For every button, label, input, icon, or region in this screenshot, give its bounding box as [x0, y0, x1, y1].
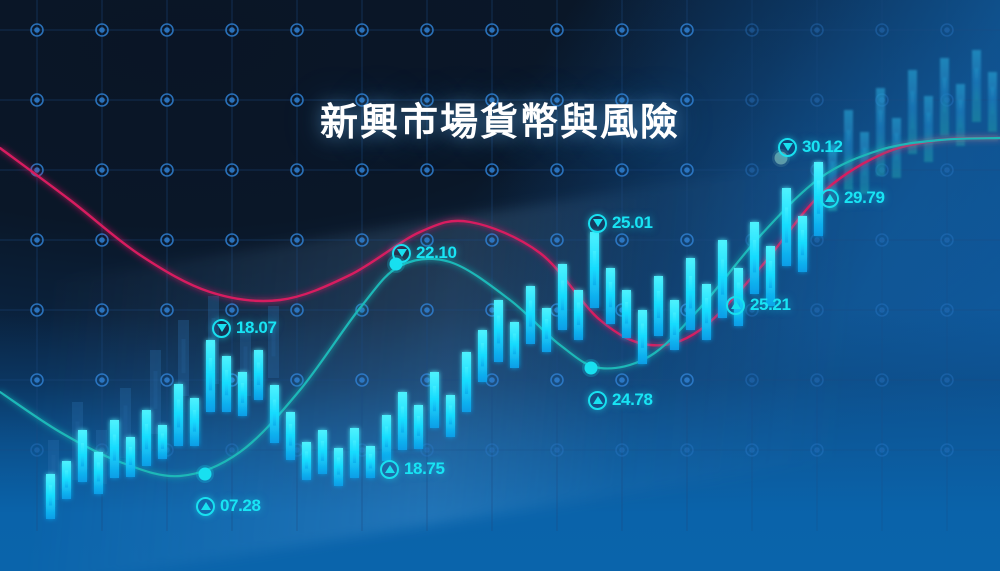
- triangle-glyph: [385, 465, 395, 473]
- data-marker-24-78[interactable]: 24.78: [588, 390, 653, 410]
- chart-canvas: 新興市場貨幣與風險 18.0707.2822.1018.7525.0124.78…: [0, 0, 1000, 571]
- data-marker-07-28[interactable]: 07.28: [196, 496, 261, 516]
- triangle-glyph: [731, 301, 741, 309]
- marker-value: 25.01: [612, 213, 653, 233]
- marker-value: 18.07: [236, 318, 277, 338]
- marker-value: 25.21: [750, 295, 791, 315]
- data-marker-22-10[interactable]: 22.10: [392, 243, 457, 263]
- triangle-glyph: [825, 194, 835, 202]
- marker-value: 30.12: [802, 137, 843, 157]
- triangle-glyph: [593, 219, 603, 227]
- arrow-down-icon: [392, 244, 411, 263]
- arrow-down-icon: [212, 319, 231, 338]
- marker-value: 07.28: [220, 496, 261, 516]
- arrow-up-icon: [380, 460, 399, 479]
- arrow-down-icon: [778, 138, 797, 157]
- curve-vertex-dot: [199, 468, 212, 481]
- data-marker-30-12[interactable]: 30.12: [778, 137, 843, 157]
- data-marker-25-21[interactable]: 25.21: [726, 295, 791, 315]
- marker-value: 24.78: [612, 390, 653, 410]
- triangle-glyph: [783, 143, 793, 151]
- data-marker-18-75[interactable]: 18.75: [380, 459, 445, 479]
- arrow-up-icon: [820, 189, 839, 208]
- triangle-glyph: [217, 324, 227, 332]
- arrow-up-icon: [588, 391, 607, 410]
- curve-dots-layer: [0, 0, 1000, 571]
- triangle-glyph: [397, 249, 407, 257]
- arrow-up-icon: [726, 296, 745, 315]
- arrow-up-icon: [196, 497, 215, 516]
- marker-value: 18.75: [404, 459, 445, 479]
- triangle-glyph: [201, 502, 211, 510]
- data-marker-29-79[interactable]: 29.79: [820, 188, 885, 208]
- marker-value: 22.10: [416, 243, 457, 263]
- arrow-down-icon: [588, 214, 607, 233]
- marker-value: 29.79: [844, 188, 885, 208]
- data-marker-18-07[interactable]: 18.07: [212, 318, 277, 338]
- triangle-glyph: [593, 396, 603, 404]
- curve-vertex-dot: [585, 362, 598, 375]
- page-title: 新興市場貨幣與風險: [0, 91, 1000, 146]
- data-marker-25-01[interactable]: 25.01: [588, 213, 653, 233]
